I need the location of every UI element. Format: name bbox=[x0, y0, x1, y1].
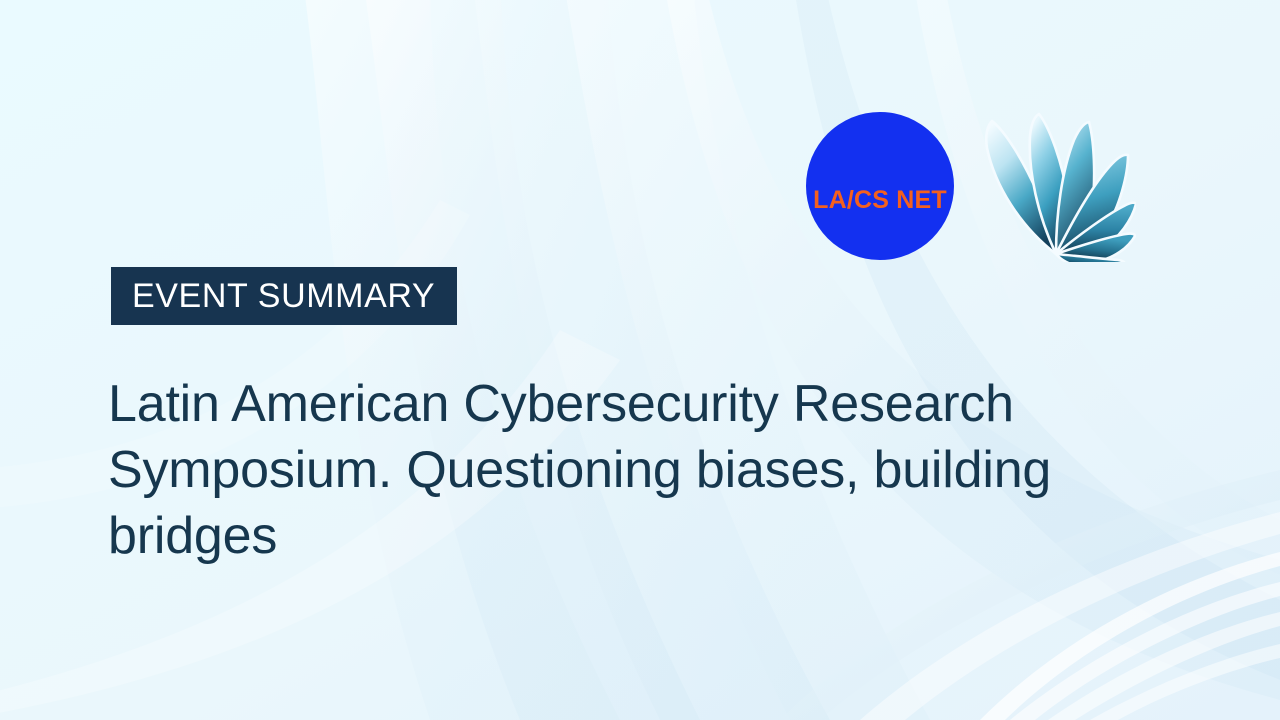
brand-circle-label: LA/CS NET bbox=[813, 186, 947, 215]
logo-lockup: LA/CS NET bbox=[806, 110, 1136, 262]
lotus-fan-mark-icon bbox=[976, 110, 1136, 262]
background-ribbon-artwork bbox=[0, 0, 1280, 720]
page-title: Latin American Cybersecurity Research Sy… bbox=[108, 371, 1223, 569]
brand-circle-logo: LA/CS NET bbox=[806, 112, 954, 260]
event-summary-badge: EVENT SUMMARY bbox=[111, 267, 457, 325]
event-summary-badge-label: EVENT SUMMARY bbox=[132, 279, 435, 313]
event-summary-slide: LA/CS NET bbox=[0, 0, 1280, 720]
